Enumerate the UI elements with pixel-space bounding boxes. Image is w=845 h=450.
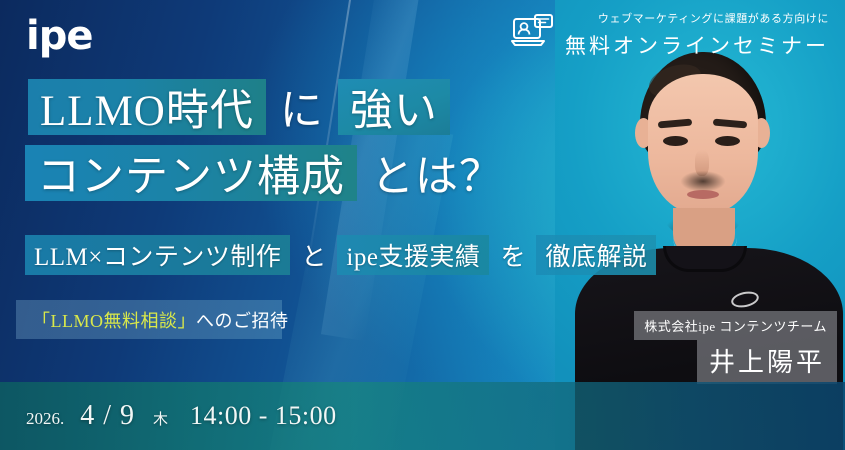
invite-badge: 「LLMO無料相談」へのご招待 <box>16 300 282 339</box>
speaker-company: 株式会社ipe コンテンツチーム <box>634 311 837 340</box>
invite-rest-text: へのご招待 <box>196 307 289 333</box>
speaker-name-row: 井上陽平 <box>627 340 837 384</box>
ipe-logo[interactable]: ipe <box>26 16 92 56</box>
speaker-name: 井上陽平 <box>697 340 837 384</box>
subtitle-segment-llm-content: LLM×コンテンツ制作 <box>25 235 290 275</box>
main-title: LLMO時代 に 強い コンテンツ構成 とは？ <box>0 76 560 208</box>
portrait-eye-right <box>715 136 740 146</box>
title-highlight-content-structure: コンテンツ構成 <box>25 145 357 201</box>
seminar-badge-text: ウェブマーケティングに課題がある方向けに 無料オンラインセミナー <box>565 10 829 60</box>
subtitle-segment-ipe-results: ipe支援実績 <box>337 235 489 275</box>
subtitle-row: LLM×コンテンツ制作 と ipe支援実績 を 徹底解説 <box>25 235 656 275</box>
schedule-year: 2026. <box>26 409 64 429</box>
title-suffix-toha: とは？ <box>357 145 517 201</box>
speaker-company-row: 株式会社ipe コンテンツチーム <box>627 311 837 340</box>
schedule-text: 2026. 4 / 9 木 14:00 - 15:00 <box>0 400 337 432</box>
title-highlight-strong: 強い <box>338 79 450 135</box>
laptop-webinar-icon <box>511 14 555 57</box>
schedule-time: 14:00 - 15:00 <box>190 401 337 431</box>
title-particle-ni: に <box>266 79 338 135</box>
schedule-day-of-week: 木 <box>153 408 168 429</box>
portrait-collar <box>663 246 747 272</box>
seminar-eyebrow: ウェブマーケティングに課題がある方向けに <box>565 10 829 26</box>
speaker-info: 株式会社ipe コンテンツチーム 井上陽平 <box>627 311 837 384</box>
subtitle-segment-thorough-explanation: 徹底解説 <box>536 235 656 275</box>
title-line-2: コンテンツ構成 とは？ <box>0 142 560 204</box>
subtitle-connector-wo: を <box>489 235 536 275</box>
portrait-mouth <box>687 190 719 199</box>
title-line-1: LLMO時代 に 強い <box>0 76 560 138</box>
subtitle-connector-to: と <box>290 235 337 275</box>
seminar-badge: ウェブマーケティングに課題がある方向けに 無料オンラインセミナー <box>511 10 829 60</box>
portrait-eye-left <box>663 136 688 146</box>
invite-highlight-text: 「LLMO無料相談」 <box>32 307 196 333</box>
seminar-banner: ipe ウェブマーケティングに課題がある方向けに 無料オンラインセミナー LLM… <box>0 0 845 450</box>
schedule-month-day: 4 / 9 <box>80 400 135 432</box>
title-highlight-llmo-era: LLMO時代 <box>28 79 266 135</box>
seminar-headline: 無料オンラインセミナー <box>565 30 829 60</box>
schedule-bar: 2026. 4 / 9 木 14:00 - 15:00 <box>0 382 845 450</box>
